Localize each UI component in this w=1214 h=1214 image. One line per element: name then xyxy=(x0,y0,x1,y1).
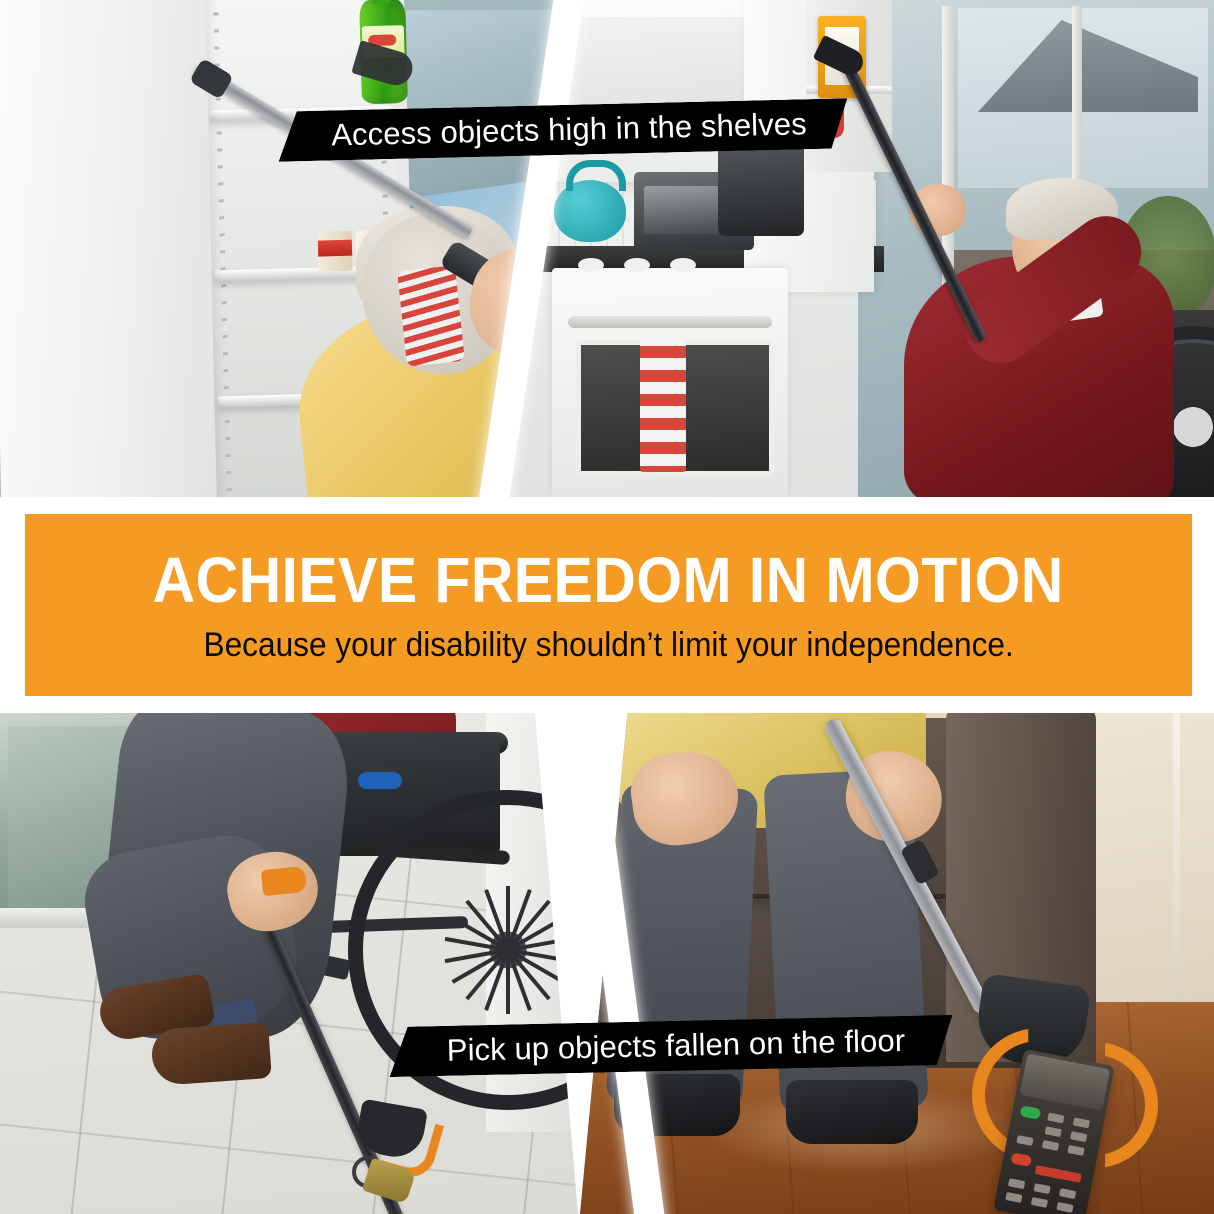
caption-top-text: Access objects high in the shelves xyxy=(319,106,807,153)
caption-bottom-text: Pick up objects fallen on the floor xyxy=(436,1023,905,1069)
pressure-cooker xyxy=(718,140,804,236)
striped-towel xyxy=(640,334,686,472)
remote-button-row xyxy=(1035,1165,1082,1183)
orange-banner: ACHIEVE FREEDOM IN MOTION Because your d… xyxy=(25,514,1192,696)
photo-top-left xyxy=(0,0,556,498)
oven-range xyxy=(552,268,788,498)
remote-button xyxy=(1010,1152,1032,1167)
photo-bottom-right xyxy=(580,712,1214,1214)
marketing-collage: Access objects high in the shelves ACHIE… xyxy=(0,0,1214,1214)
photo-bottom-left xyxy=(0,712,578,1214)
invacare-logo xyxy=(358,772,402,789)
banner-headline: ACHIEVE FREEDOM IN MOTION xyxy=(153,548,1064,612)
black-shoe xyxy=(786,1080,918,1144)
banner-subtitle: Because your disability shouldn’t limit … xyxy=(203,628,1013,662)
cabinet-door xyxy=(0,0,216,498)
remote-power-button xyxy=(1020,1105,1042,1120)
striped-collar xyxy=(397,265,465,367)
photo-top-right xyxy=(506,0,1214,498)
canned-food xyxy=(318,231,353,272)
photo-row-top xyxy=(0,0,1214,498)
banner-gap-top xyxy=(0,497,1214,515)
brown-shoe xyxy=(150,1022,272,1086)
banner-gap-bottom xyxy=(0,695,1214,713)
teal-kettle xyxy=(554,180,626,242)
